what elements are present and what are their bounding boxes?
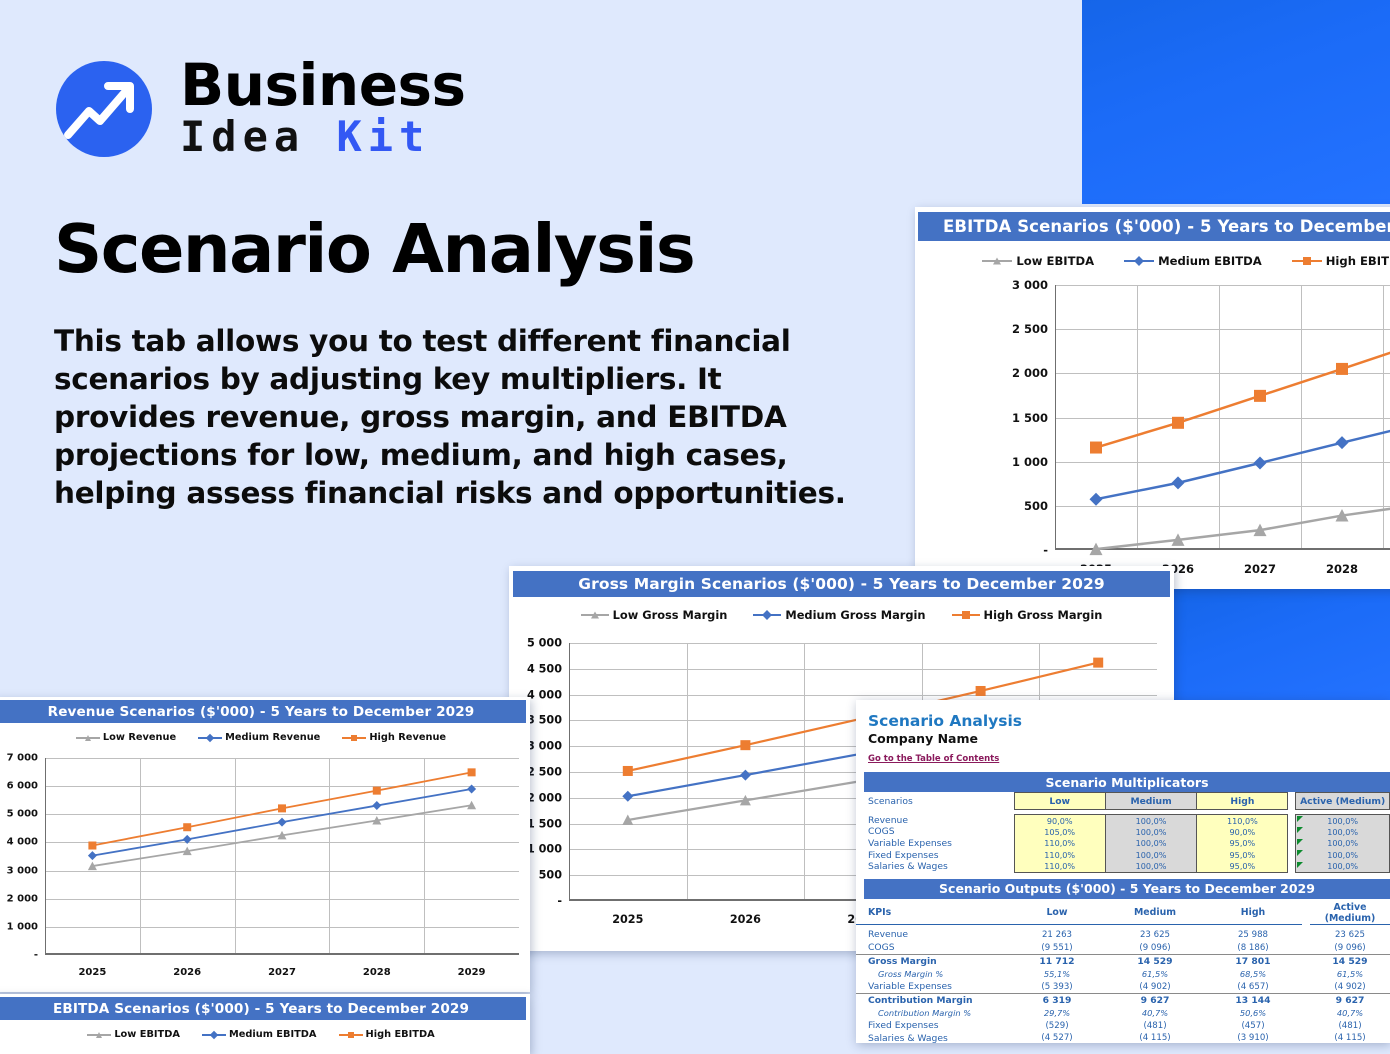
legend-marker-square-icon (342, 732, 366, 743)
legend-label: High EBITDA (366, 1029, 435, 1040)
multiplier-high[interactable]: 95,0% (1197, 838, 1288, 850)
chart-series-line (1096, 342, 1390, 448)
multiplier-low[interactable]: 105,0% (1014, 826, 1105, 838)
kpi-high: 13 144 (1204, 993, 1302, 1006)
multiplier-label: Salaries & Wages (856, 861, 1014, 873)
x-axis-tick: 2025 (78, 967, 106, 978)
chart-title-gross-margin: Gross Margin Scenarios ($'000) - 5 Years… (513, 571, 1170, 597)
column-header-low: Low (1008, 902, 1106, 925)
legend-item-high-ebitda-bottom: High EBITDA (339, 1029, 435, 1040)
spacer (1302, 1032, 1310, 1043)
legend-item-medium-ebitda: Medium EBITDA (1124, 254, 1262, 268)
chart-data-point (88, 842, 96, 850)
y-axis-tick: 1 500 (1012, 411, 1048, 425)
kpi-active: 40,7% (1310, 1006, 1390, 1019)
legend-item-high-revenue: High Revenue (342, 732, 446, 743)
kpi-label: Gross Margin % (856, 967, 1008, 980)
y-axis-tick: 1 000 (7, 921, 38, 932)
chart-data-point (1336, 436, 1349, 449)
kpi-high: (457) (1204, 1019, 1302, 1032)
column-header-medium: Medium (1106, 902, 1204, 925)
y-axis-tick: 500 (539, 869, 562, 882)
y-axis-tick: - (34, 950, 38, 961)
table-row: Fixed Expenses110,0%100,0%95,0%100,0% (856, 849, 1390, 861)
y-axis-tick: 1 500 (527, 817, 562, 830)
legend-item-low-gross-margin: Low Gross Margin (581, 608, 728, 622)
kpi-medium: (4 902) (1106, 980, 1204, 993)
active-flag-icon (1297, 862, 1303, 868)
kpi-low: 6 319 (1008, 993, 1106, 1006)
multiplier-high[interactable]: 110,0% (1197, 815, 1288, 827)
table-row: Salaries & Wages110,0%100,0%95,0%100,0% (856, 861, 1390, 873)
chart-title-ebitda-bottom: EBITDA Scenarios ($'000) - 5 Years to De… (0, 997, 526, 1020)
y-axis-tick: 4 500 (527, 662, 562, 675)
chart-data-point (468, 768, 476, 776)
scenario-multiplicators-table: Scenarios Low Medium High Active (Medium… (856, 792, 1390, 873)
kpi-active: 14 529 (1310, 954, 1390, 967)
legend-label: Medium EBITDA (229, 1029, 317, 1040)
y-axis-tick: 6 000 (7, 781, 38, 792)
chart-title-revenue: Revenue Scenarios ($'000) - 5 Years to D… (0, 700, 526, 723)
table-header-row: Scenarios Low Medium High Active (Medium… (856, 793, 1390, 810)
y-axis-tick: 3 500 (527, 714, 562, 727)
multiplier-low[interactable]: 90,0% (1014, 815, 1105, 827)
legend-label: High EBITDA (1326, 254, 1390, 268)
kpi-high: 25 988 (1204, 928, 1302, 941)
kpi-low: (5 393) (1008, 980, 1106, 993)
chart-legend-gross-margin: Low Gross Margin Medium Gross Margin Hig… (509, 608, 1174, 622)
kpi-medium: (481) (1106, 1019, 1204, 1032)
kpi-label: Contribution Margin % (856, 1006, 1008, 1019)
multiplier-low[interactable]: 110,0% (1014, 849, 1105, 861)
spacer (1302, 967, 1310, 980)
spacer (1302, 928, 1310, 941)
legend-marker-triangle-icon (581, 609, 609, 621)
chart-legend-revenue: Low Revenue Medium Revenue High Revenue (0, 732, 530, 743)
chart-data-point (622, 791, 633, 802)
kpi-label: Gross Margin (856, 954, 1008, 967)
y-axis-tick: 2 000 (7, 893, 38, 904)
table-row: Contribution Margin %29,7%40,7%50,6%40,7… (856, 1006, 1390, 1019)
scenario-panel-title: Scenario Analysis (868, 712, 1390, 730)
brand-name-line1: Business (180, 58, 466, 113)
y-axis-tick: 5 000 (7, 809, 38, 820)
kpi-active: 9 627 (1310, 993, 1390, 1006)
legend-item-high-gross-margin: High Gross Margin (952, 608, 1103, 622)
chart-data-point (372, 801, 381, 810)
multiplier-active: 100,0% (1296, 861, 1390, 873)
chart-data-point (278, 804, 286, 812)
chart-card-revenue: Revenue Scenarios ($'000) - 5 Years to D… (0, 697, 530, 992)
y-axis-tick: - (1043, 543, 1048, 557)
y-axis-tick: 2 500 (1012, 322, 1048, 336)
kpi-active: (4 902) (1310, 980, 1390, 993)
kpi-low: 21 263 (1008, 928, 1106, 941)
chart-data-point (1172, 417, 1184, 429)
chart-series-layer (45, 758, 519, 955)
scenario-multiplicators-band: Scenario Multiplicators (864, 772, 1390, 792)
x-axis-tick: 2028 (1326, 562, 1358, 576)
y-axis-tick: 1 000 (1012, 455, 1048, 469)
multiplier-high[interactable]: 95,0% (1197, 861, 1288, 873)
legend-marker-diamond-icon (753, 609, 781, 621)
kpi-low: (529) (1008, 1019, 1106, 1032)
y-axis-tick: - (557, 895, 562, 908)
multiplier-medium[interactable]: 100,0% (1105, 849, 1197, 861)
x-axis-tick: 2026 (173, 967, 201, 978)
table-of-contents-link[interactable]: Go to the Table of Contents (868, 754, 999, 764)
multiplier-medium[interactable]: 100,0% (1105, 826, 1197, 838)
multiplier-label: Fixed Expenses (856, 849, 1014, 861)
kpi-active: (481) (1310, 1019, 1390, 1032)
chart-card-ebitda-top: EBITDA Scenarios ($'000) - 5 Years to De… (915, 207, 1390, 589)
y-axis-tick: 7 000 (7, 753, 38, 764)
legend-label: Medium Revenue (225, 732, 320, 743)
y-axis-tick: 4 000 (527, 688, 562, 701)
multiplier-medium[interactable]: 100,0% (1105, 838, 1197, 850)
legend-label: Low EBITDA (114, 1029, 180, 1040)
multiplier-high[interactable]: 90,0% (1197, 826, 1288, 838)
column-header-kpis: KPIs (856, 902, 1008, 925)
legend-item-medium-ebitda-bottom: Medium EBITDA (202, 1029, 317, 1040)
column-header-medium: Medium (1105, 793, 1197, 810)
kpi-high: 68,5% (1204, 967, 1302, 980)
kpi-medium: 23 625 (1106, 928, 1204, 941)
chart-series-layer (1055, 285, 1390, 550)
column-header-high: High (1204, 902, 1302, 925)
multiplier-active: 100,0% (1296, 849, 1390, 861)
brand-logo-lockup: Business Idea Kit (56, 58, 466, 159)
kpi-label: Contribution Margin (856, 993, 1008, 1006)
column-header-active: Active (Medium) (1296, 793, 1390, 810)
legend-marker-diamond-icon (202, 1029, 226, 1040)
spacer (1302, 980, 1310, 993)
table-row: Salaries & Wages(4 527)(4 115)(3 910)(4 … (856, 1032, 1390, 1043)
column-header-low: Low (1014, 793, 1105, 810)
background-block-top (1082, 0, 1390, 204)
chart-data-point (976, 686, 986, 696)
kpi-label: Salaries & Wages (856, 1032, 1008, 1043)
kpi-high: (3 910) (1204, 1032, 1302, 1043)
legend-label: Medium EBITDA (1158, 254, 1262, 268)
kpi-low: 29,7% (1008, 1006, 1106, 1019)
active-flag-icon (1297, 839, 1303, 845)
legend-marker-triangle-icon (76, 732, 100, 743)
kpi-medium: 61,5% (1106, 967, 1204, 980)
kpi-medium: (4 115) (1106, 1032, 1204, 1043)
spacer (1288, 838, 1296, 850)
brand-word-kit: Kit (336, 112, 430, 161)
multiplier-active: 100,0% (1296, 826, 1390, 838)
y-axis-tick: 2 000 (527, 791, 562, 804)
active-flag-icon (1297, 850, 1303, 856)
chart-data-point (88, 851, 97, 860)
y-axis-tick: 3 000 (1012, 278, 1048, 292)
kpi-low: (9 551) (1008, 941, 1106, 954)
legend-item-low-ebitda: Low EBITDA (982, 254, 1094, 268)
kpi-medium: 9 627 (1106, 993, 1204, 1006)
kpi-medium: 14 529 (1106, 954, 1204, 967)
legend-marker-diamond-icon (1124, 255, 1154, 267)
chart-data-point (740, 770, 751, 781)
multiplier-medium[interactable]: 100,0% (1105, 815, 1197, 827)
legend-marker-square-icon (339, 1029, 363, 1040)
chart-data-point (278, 818, 287, 827)
spacer (1288, 815, 1296, 827)
chart-data-point (1254, 456, 1267, 469)
multiplier-active: 100,0% (1296, 838, 1390, 850)
table-row: Contribution Margin6 3199 62713 1449 627 (856, 993, 1390, 1006)
growth-arrow-icon (56, 61, 152, 157)
legend-item-low-ebitda-bottom: Low EBITDA (87, 1029, 180, 1040)
chart-data-point (183, 823, 191, 831)
chart-data-point (183, 835, 192, 844)
chart-data-point (1254, 390, 1266, 402)
legend-marker-square-icon (952, 609, 980, 621)
chart-card-ebitda-bottom: EBITDA Scenarios ($'000) - 5 Years to De… (0, 994, 530, 1054)
spacer (1302, 993, 1310, 1006)
spacer (1302, 1006, 1310, 1019)
kpi-active: (9 096) (1310, 941, 1390, 954)
kpi-high: (4 657) (1204, 980, 1302, 993)
legend-item-medium-revenue: Medium Revenue (198, 732, 320, 743)
chart-data-point (1090, 493, 1103, 506)
kpi-label: Fixed Expenses (856, 1019, 1008, 1032)
legend-label: High Revenue (369, 732, 446, 743)
legend-label: Low Gross Margin (613, 608, 728, 622)
chart-data-point (373, 787, 381, 795)
scenario-outputs-band: Scenario Outputs ($'000) - 5 Years to De… (864, 879, 1390, 899)
spacer (1302, 954, 1310, 967)
table-row: Variable Expenses(5 393)(4 902)(4 657)(4… (856, 980, 1390, 993)
brand-name-line2: Idea Kit (180, 115, 466, 159)
chart-title-ebitda-top: EBITDA Scenarios ($'000) - 5 Years to De… (918, 212, 1390, 241)
legend-label: Medium Gross Margin (785, 608, 925, 622)
chart-data-point (740, 740, 750, 750)
kpi-label: COGS (856, 941, 1008, 954)
y-axis-tick: 3 000 (7, 865, 38, 876)
chart-plot-area-revenue: -1 0002 0003 0004 0005 0006 0007 0002025… (45, 758, 519, 955)
kpi-active: 23 625 (1310, 928, 1390, 941)
multiplier-medium[interactable]: 100,0% (1105, 861, 1197, 873)
column-header-active: Active (Medium) (1310, 902, 1390, 925)
chart-legend-ebitda-top: Low EBITDA Medium EBITDA High EBITDA (915, 254, 1390, 268)
spacer (1288, 793, 1296, 810)
table-row: COGS105,0%100,0%90,0%100,0% (856, 826, 1390, 838)
table-row: Variable Expenses110,0%100,0%95,0%100,0% (856, 838, 1390, 850)
active-flag-icon (1297, 827, 1303, 833)
y-axis-tick: 3 000 (527, 740, 562, 753)
company-name: Company Name (868, 731, 1390, 746)
legend-label: High Gross Margin (984, 608, 1103, 622)
spacer (1288, 849, 1296, 861)
multiplier-row-label: Scenarios (856, 793, 1014, 810)
multiplier-high[interactable]: 95,0% (1197, 849, 1288, 861)
kpi-low: 55,1% (1008, 967, 1106, 980)
legend-label: Low Revenue (103, 732, 176, 743)
x-axis-tick: 2028 (363, 967, 391, 978)
x-axis-tick: 2029 (458, 967, 486, 978)
page-description: This tab allows you to test different fi… (54, 322, 854, 512)
kpi-active: (4 115) (1310, 1032, 1390, 1043)
brand-word-idea: Idea (180, 112, 305, 161)
multiplier-active: 100,0% (1296, 815, 1390, 827)
spacer (1288, 861, 1296, 873)
legend-item-low-revenue: Low Revenue (76, 732, 176, 743)
table-row: Gross Margin11 71214 52917 80114 529 (856, 954, 1390, 967)
x-axis-tick: 2027 (268, 967, 296, 978)
chart-data-point (1336, 363, 1348, 375)
y-axis-tick: 2 000 (1012, 366, 1048, 380)
table-row: Fixed Expenses(529)(481)(457)(481) (856, 1019, 1390, 1032)
kpi-label: Variable Expenses (856, 980, 1008, 993)
y-axis-tick: 1 000 (527, 843, 562, 856)
column-header-high: High (1197, 793, 1288, 810)
table-row: COGS(9 551)(9 096)(8 186)(9 096) (856, 941, 1390, 954)
legend-marker-square-icon (1292, 255, 1322, 267)
kpi-label: Revenue (856, 928, 1008, 941)
kpi-low: 11 712 (1008, 954, 1106, 967)
chart-data-point (1172, 476, 1185, 489)
multiplier-label: Variable Expenses (856, 838, 1014, 850)
spacer (1302, 902, 1310, 925)
active-flag-icon (1297, 816, 1303, 822)
page-title: Scenario Analysis (54, 210, 694, 288)
chart-data-point (467, 784, 476, 793)
table-row: Revenue21 26323 62525 98823 625 (856, 928, 1390, 941)
kpi-high: 50,6% (1204, 1006, 1302, 1019)
background-block-bottom (1170, 589, 1390, 705)
y-axis-tick: 2 500 (527, 766, 562, 779)
chart-data-point (623, 766, 633, 776)
multiplier-label: COGS (856, 826, 1014, 838)
legend-item-high-ebitda: High EBITDA (1292, 254, 1390, 268)
chart-series-line (1096, 504, 1390, 549)
multiplier-low[interactable]: 110,0% (1014, 861, 1105, 873)
multiplier-label: Revenue (856, 815, 1014, 827)
legend-marker-diamond-icon (198, 732, 222, 743)
multiplier-low[interactable]: 110,0% (1014, 838, 1105, 850)
scenario-outputs-table: KPIs Low Medium High Active (Medium) Rev… (856, 902, 1390, 1043)
kpi-high: (8 186) (1204, 941, 1302, 954)
scenario-analysis-panel: Scenario Analysis Company Name Go to the… (856, 700, 1390, 1043)
kpi-medium: 40,7% (1106, 1006, 1204, 1019)
kpi-low: (4 527) (1008, 1032, 1106, 1043)
table-row: Revenue90,0%100,0%110,0%100,0% (856, 815, 1390, 827)
table-row: Gross Margin %55,1%61,5%68,5%61,5% (856, 967, 1390, 980)
legend-label: Low EBITDA (1016, 254, 1094, 268)
x-axis-tick: 2027 (1244, 562, 1276, 576)
x-axis-tick: 2026 (730, 913, 761, 926)
y-axis-tick: 500 (1024, 499, 1048, 513)
outputs-header-row: KPIs Low Medium High Active (Medium) (856, 902, 1390, 925)
spacer (1302, 1019, 1310, 1032)
y-axis-tick: 5 000 (527, 637, 562, 650)
y-axis-tick: 4 000 (7, 837, 38, 848)
spacer (1288, 826, 1296, 838)
spacer (1302, 941, 1310, 954)
chart-data-point (1090, 442, 1102, 454)
kpi-medium: (9 096) (1106, 941, 1204, 954)
chart-plot-area-ebitda-top: -5001 0001 5002 0002 5003 00020252026202… (1055, 285, 1390, 550)
x-axis-tick: 2025 (612, 913, 643, 926)
legend-marker-triangle-icon (982, 255, 1012, 267)
legend-marker-triangle-icon (87, 1029, 111, 1040)
kpi-high: 17 801 (1204, 954, 1302, 967)
chart-legend-ebitda-bottom: Low EBITDA Medium EBITDA High EBITDA (0, 1029, 530, 1040)
chart-data-point (1093, 658, 1103, 668)
legend-item-medium-gross-margin: Medium Gross Margin (753, 608, 925, 622)
kpi-active: 61,5% (1310, 967, 1390, 980)
